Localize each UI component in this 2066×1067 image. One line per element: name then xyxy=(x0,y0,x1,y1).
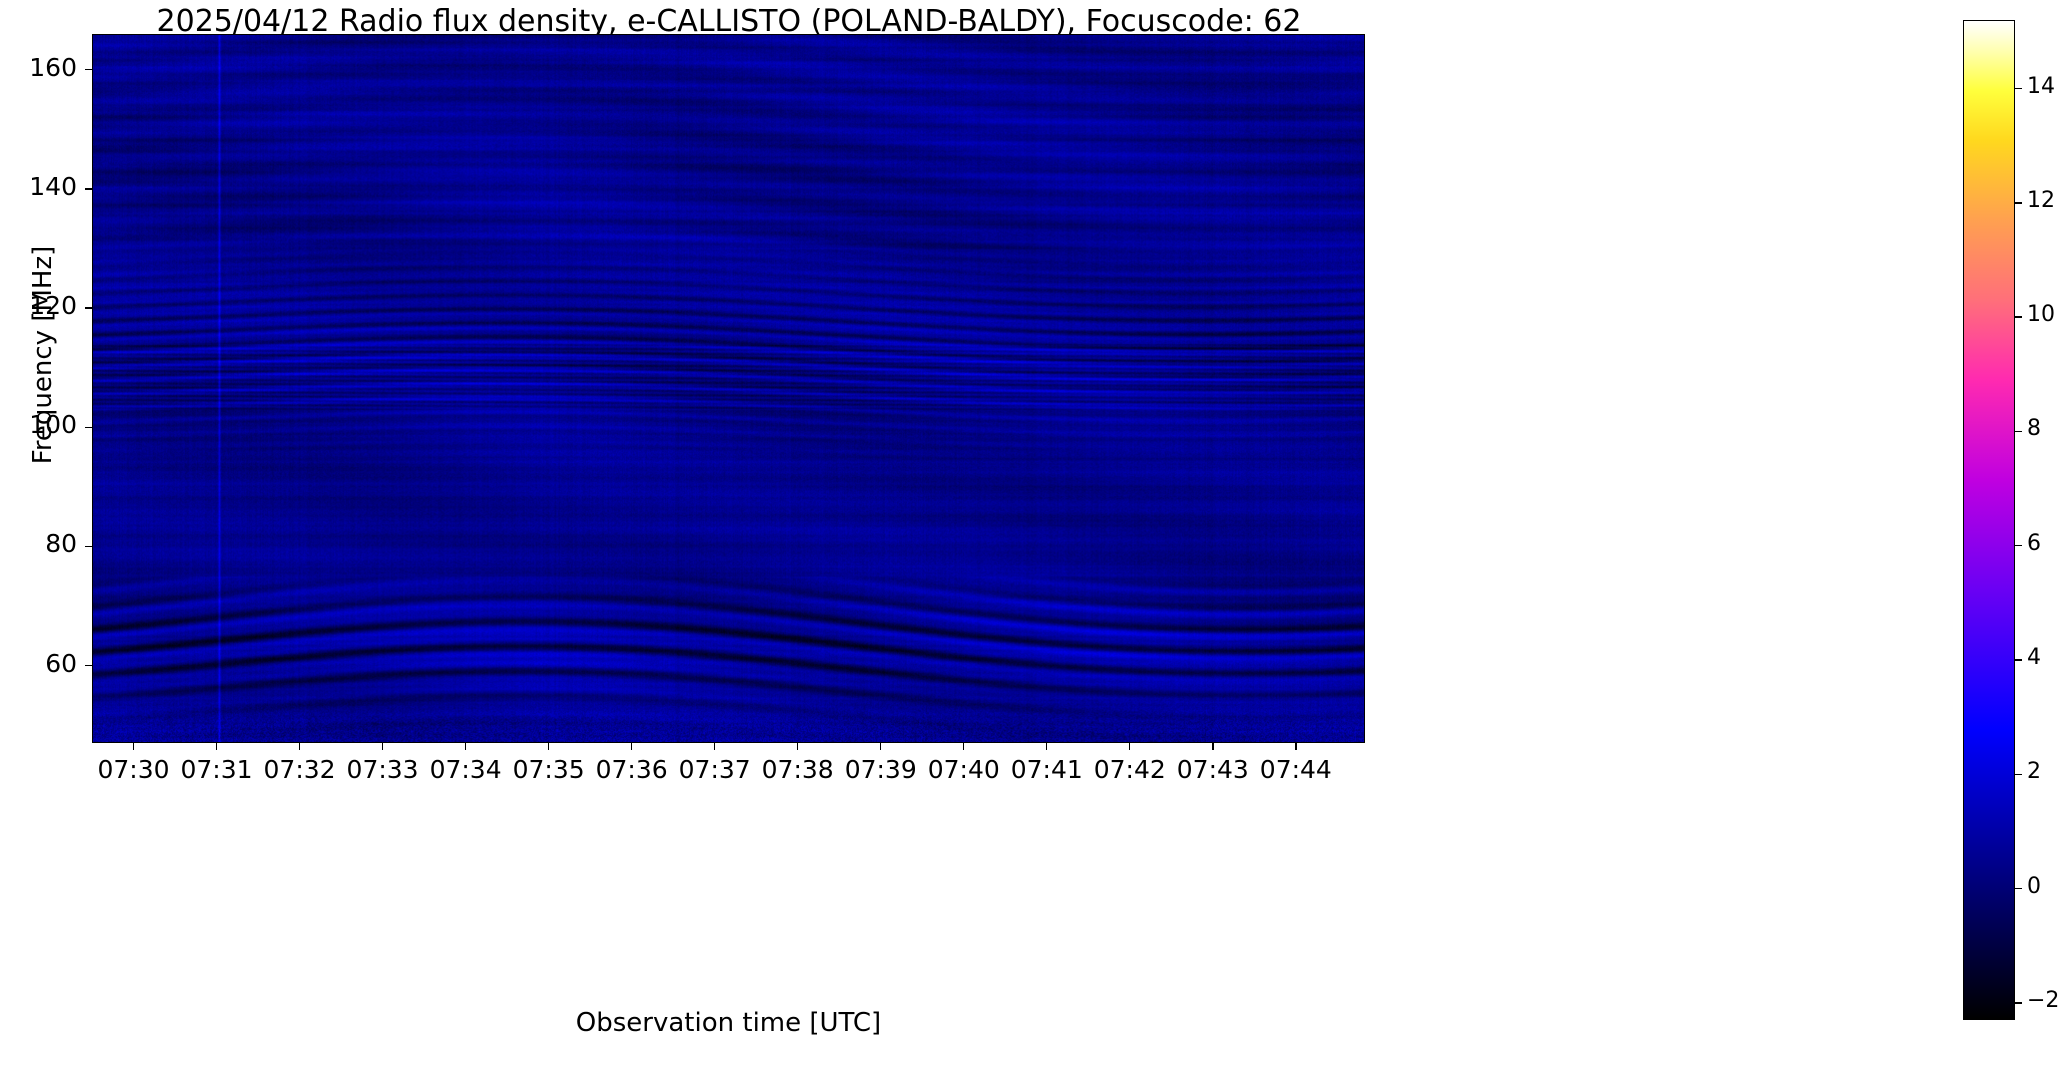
y-tick-label: 120 xyxy=(0,291,77,320)
x-tick-mark xyxy=(631,743,632,750)
x-tick-mark xyxy=(382,743,383,750)
colorbar-tick-mark xyxy=(2015,659,2022,660)
colorbar-tick-label: −2 xyxy=(2027,988,2059,1013)
colorbar-tick-label: 2 xyxy=(2027,759,2041,784)
y-tick-label: 100 xyxy=(0,410,77,439)
spectrogram-image xyxy=(93,35,1364,742)
x-tick-mark xyxy=(1046,743,1047,750)
colorbar-tick-mark xyxy=(2015,88,2022,89)
y-axis-label: Frequency [MHz] xyxy=(28,195,58,515)
colorbar-tick-label: 10 xyxy=(2027,302,2055,327)
x-tick-label: 07:44 xyxy=(1236,755,1356,784)
colorbar-tick-mark xyxy=(2015,545,2022,546)
y-tick-mark xyxy=(85,665,92,666)
figure-canvas: 2025/04/12 Radio flux density, e-CALLIST… xyxy=(0,0,2066,1067)
y-tick-label: 160 xyxy=(0,53,77,82)
x-tick-mark xyxy=(299,743,300,750)
x-tick-mark xyxy=(216,743,217,750)
y-tick-mark xyxy=(85,188,92,189)
x-tick-mark xyxy=(880,743,881,750)
y-tick-mark xyxy=(85,546,92,547)
x-tick-mark xyxy=(1295,743,1296,750)
colorbar-tick-label: 8 xyxy=(2027,416,2041,441)
x-tick-mark xyxy=(714,743,715,750)
spectrogram-axes[interactable] xyxy=(92,34,1365,743)
x-tick-mark xyxy=(548,743,549,750)
y-tick-label: 80 xyxy=(0,529,77,558)
colorbar-tick-label: 6 xyxy=(2027,531,2041,556)
colorbar-tick-mark xyxy=(2015,316,2022,317)
x-tick-mark xyxy=(133,743,134,750)
x-tick-mark xyxy=(797,743,798,750)
x-tick-mark xyxy=(1129,743,1130,750)
y-tick-mark xyxy=(85,307,92,308)
x-tick-mark xyxy=(465,743,466,750)
x-axis-label: Observation time [UTC] xyxy=(92,1008,1365,1038)
colorbar-tick-mark xyxy=(2015,888,2022,889)
colorbar-tick-label: 12 xyxy=(2027,188,2055,213)
colorbar-tick-mark xyxy=(2015,774,2022,775)
y-tick-label: 140 xyxy=(0,172,77,201)
colorbar-tick-mark xyxy=(2015,202,2022,203)
y-tick-mark xyxy=(85,427,92,428)
colorbar[interactable] xyxy=(1963,20,2015,1020)
colorbar-tick-label: 0 xyxy=(2027,874,2041,899)
y-tick-mark xyxy=(85,69,92,70)
colorbar-tick-label: 4 xyxy=(2027,645,2041,670)
x-tick-mark xyxy=(1212,743,1213,750)
colorbar-tick-mark xyxy=(2015,1002,2022,1003)
y-tick-label: 60 xyxy=(0,649,77,678)
colorbar-tick-label: 14 xyxy=(2027,74,2055,99)
x-tick-mark xyxy=(963,743,964,750)
colorbar-tick-mark xyxy=(2015,431,2022,432)
